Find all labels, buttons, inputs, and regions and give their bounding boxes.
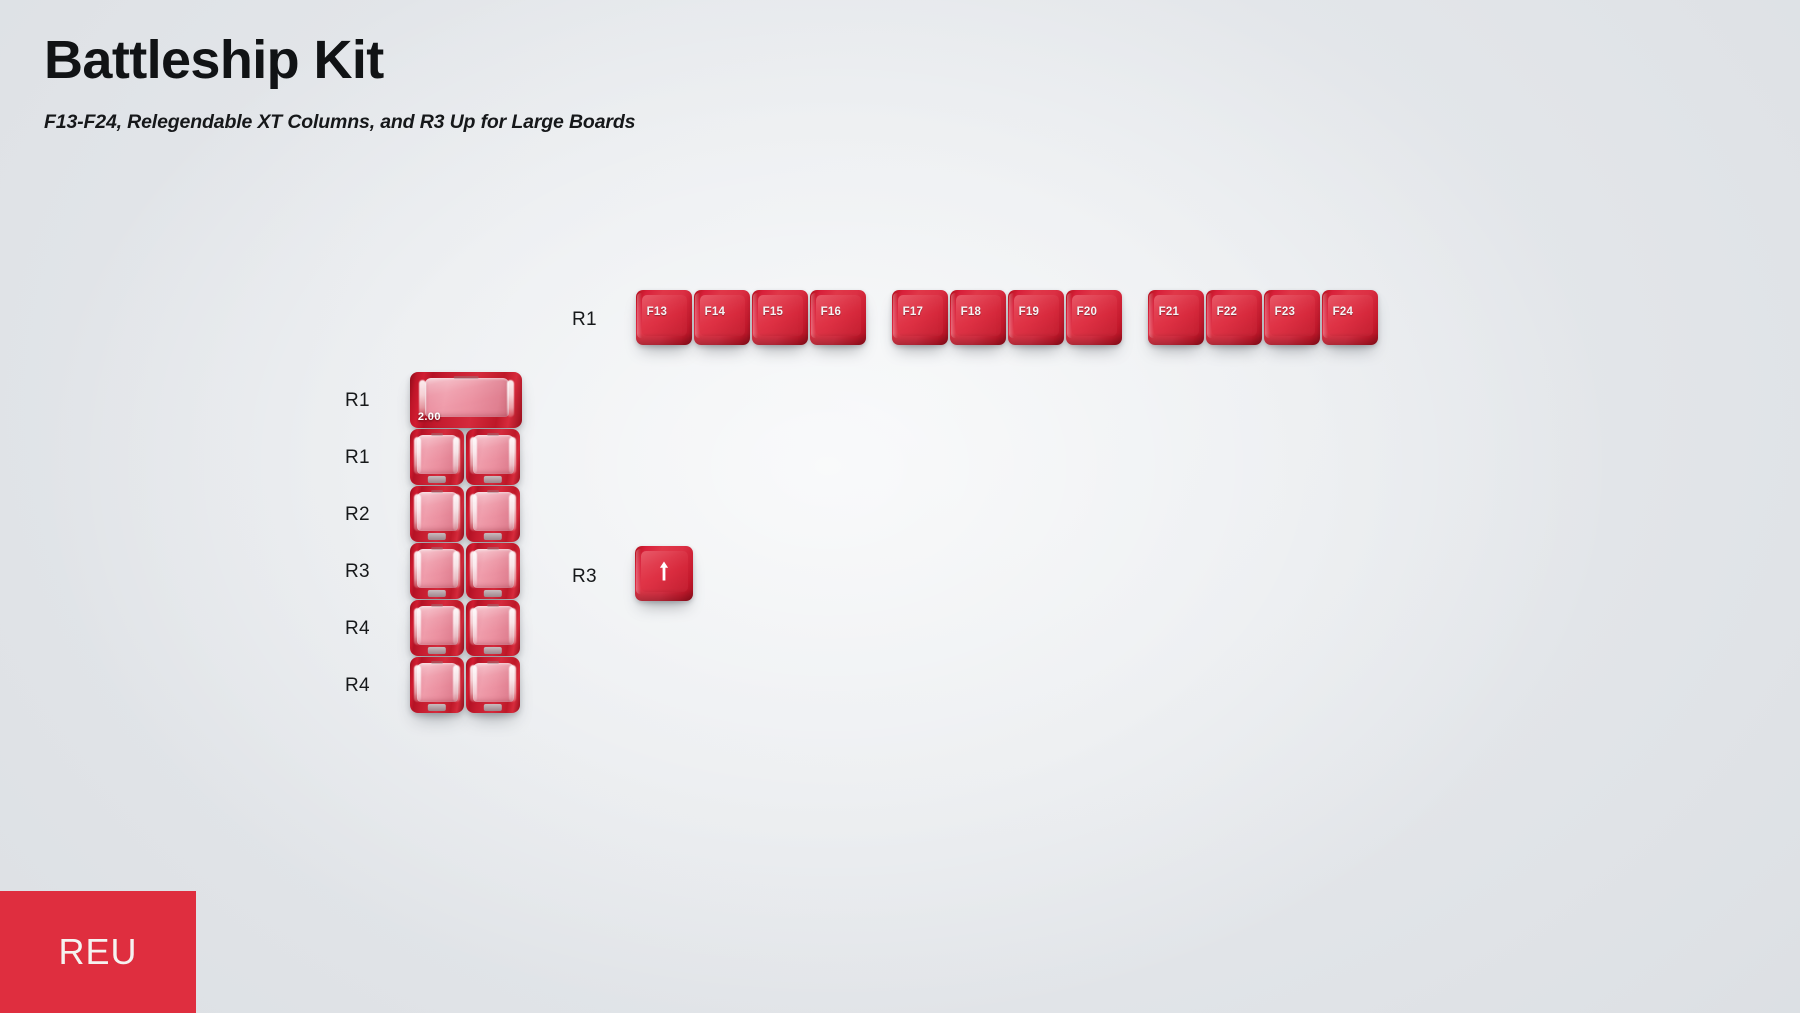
keycap-xt-r3-c0[interactable]: [410, 543, 464, 599]
keycap-vent-mark: [487, 604, 499, 607]
keycap-top-face: [1014, 295, 1059, 336]
keycap-left-rim: [1323, 293, 1328, 338]
keycap-left-rim: [753, 293, 758, 338]
row-label-xt-3: R3: [345, 561, 370, 583]
keycap-top-face: [816, 295, 861, 336]
keycap-right-specular: [509, 608, 516, 645]
keycap-skirt: [1066, 333, 1122, 345]
keycap-left-specular: [470, 551, 477, 588]
keycap-skirt: [694, 333, 750, 345]
keycap-stem-notch: [484, 704, 502, 711]
keycap-xt-r5-c1[interactable]: [466, 657, 520, 713]
keycap-left-rim: [893, 293, 898, 338]
keycap-skirt: [950, 333, 1006, 345]
keycap-stem-notch: [484, 533, 502, 540]
keycap-skirt: [1148, 333, 1204, 345]
keycap-skirt: [752, 333, 808, 345]
keycap-top-face: [417, 606, 458, 645]
keycap-skirt: [1264, 333, 1320, 345]
keycap-top-face: [898, 295, 943, 336]
reu-badge-label: REU: [58, 931, 137, 973]
keycap-vent-mark: [431, 661, 443, 664]
keycap-right-specular: [509, 494, 516, 531]
keycap-top-face: [1154, 295, 1199, 336]
keycap-vent-mark: [431, 433, 443, 436]
keycap-left-rim: [1207, 293, 1212, 338]
row-label-function-row: R1: [572, 309, 597, 331]
keycap-skirt: [892, 333, 948, 345]
keycap-vent-mark: [431, 490, 443, 493]
keycap-right-specular: [453, 608, 460, 645]
keycap-skirt: [810, 333, 866, 345]
keycap-xt-r5-c0[interactable]: [410, 657, 464, 713]
row-label-xt-4: R4: [345, 618, 370, 640]
keycap-stem-notch: [484, 647, 502, 654]
keycap-xt-r4-c0[interactable]: [410, 600, 464, 656]
keycap-xt-r4-c1[interactable]: [466, 600, 520, 656]
reu-badge: REU: [0, 891, 196, 1013]
keycap-left-specular: [414, 608, 421, 645]
keycap-left-specular: [414, 665, 421, 702]
keycap-xt-r1-c1[interactable]: [466, 429, 520, 485]
keycap-left-specular: [414, 494, 421, 531]
keycap-f24[interactable]: F24: [1322, 290, 1378, 345]
keycap-top-face: [641, 551, 688, 592]
keycap-top-face: [1072, 295, 1117, 336]
keycap-left-rim: [636, 549, 641, 594]
keycap-left-specular: [470, 608, 477, 645]
keycap-f21[interactable]: F21: [1148, 290, 1204, 345]
keycap-left-rim: [811, 293, 816, 338]
keycap-left-specular: [414, 551, 421, 588]
keycap-top-face: [417, 492, 458, 531]
keycap-left-rim: [951, 293, 956, 338]
keycap-top-face: [1270, 295, 1315, 336]
keycap-xt-r0-c0-2u[interactable]: 2.00: [410, 372, 522, 428]
keycap-top-face: [473, 606, 514, 645]
keycap-vent-mark: [431, 604, 443, 607]
page-subtitle: F13-F24, Relegendable XT Columns, and R3…: [44, 111, 635, 134]
keycap-f14[interactable]: F14: [694, 290, 750, 345]
keycap-xt-r2-c1[interactable]: [466, 486, 520, 542]
keycap-stem-notch: [428, 590, 446, 597]
keycap-left-rim: [1265, 293, 1270, 338]
keycap-left-specular: [470, 665, 477, 702]
keycap-f15[interactable]: F15: [752, 290, 808, 345]
keycap-skirt: [636, 333, 692, 345]
row-label-xt-1: R1: [345, 447, 370, 469]
row-label-arrow-key: R3: [572, 566, 597, 588]
keycap-top-face: [758, 295, 803, 336]
keycap-top-face: [473, 549, 514, 588]
keycap-vent-mark: [454, 376, 479, 379]
keycap-top-face: [417, 549, 458, 588]
keycap-top-face: [473, 663, 514, 702]
page-title: Battleship Kit: [44, 32, 635, 89]
keycap-top-face: [473, 435, 514, 474]
keycap-right-specular: [453, 551, 460, 588]
keycap-vent-mark: [487, 547, 499, 550]
keycap-left-specular: [414, 437, 421, 474]
keycap-stem-notch: [428, 533, 446, 540]
keycap-top-face: [642, 295, 687, 336]
header: Battleship Kit F13-F24, Relegendable XT …: [44, 32, 635, 134]
keycap-f19[interactable]: F19: [1008, 290, 1064, 345]
keycap-stem-notch: [484, 590, 502, 597]
keycap-right-specular: [509, 551, 516, 588]
studio-backdrop: [0, 0, 1800, 1013]
keycap-vent-mark: [487, 433, 499, 436]
keycap-right-specular: [453, 437, 460, 474]
keycap-f17[interactable]: F17: [892, 290, 948, 345]
keycap-right-specular: [507, 380, 514, 417]
keycap-left-rim: [1009, 293, 1014, 338]
keycap-skirt: [1008, 333, 1064, 345]
keycap-stem-notch: [428, 476, 446, 483]
keycap-size-legend: 2.00: [418, 411, 441, 423]
keycap-top-face: [1212, 295, 1257, 336]
row-label-xt-5: R4: [345, 675, 370, 697]
keycap-top-face: [1328, 295, 1373, 336]
keycap-skirt: [635, 589, 693, 601]
keycap-stem-notch: [428, 704, 446, 711]
keycap-skirt: [1206, 333, 1262, 345]
keycap-top-face: [473, 492, 514, 531]
keycap-left-rim: [1149, 293, 1154, 338]
keycap-f20[interactable]: F20: [1066, 290, 1122, 345]
keycap-left-specular: [470, 494, 477, 531]
keycap-left-rim: [1067, 293, 1072, 338]
keycap-vent-mark: [487, 661, 499, 664]
keycap-vent-mark: [431, 547, 443, 550]
keycap-xt-r3-c1[interactable]: [466, 543, 520, 599]
keycap-f23[interactable]: F23: [1264, 290, 1320, 345]
keycap-top-face: [417, 435, 458, 474]
row-label-xt-2: R2: [345, 504, 370, 526]
keycap-f22[interactable]: F22: [1206, 290, 1262, 345]
keycap-left-rim: [637, 293, 642, 338]
keycap-left-rim: [695, 293, 700, 338]
keycap-stem-notch: [484, 476, 502, 483]
keycap-left-specular: [470, 437, 477, 474]
keycap-top-face: [700, 295, 745, 336]
keycap-r3-up-arrow[interactable]: [635, 546, 693, 601]
keycap-f18[interactable]: F18: [950, 290, 1006, 345]
keycap-right-specular: [509, 437, 516, 474]
keycap-f13[interactable]: F13: [636, 290, 692, 345]
keycap-right-specular: [453, 494, 460, 531]
keycap-vent-mark: [487, 490, 499, 493]
keycap-stem-notch: [428, 647, 446, 654]
keycap-right-specular: [509, 665, 516, 702]
keycap-top-face: [417, 663, 458, 702]
keycap-right-specular: [453, 665, 460, 702]
keycap-xt-r2-c0[interactable]: [410, 486, 464, 542]
keycap-f16[interactable]: F16: [810, 290, 866, 345]
keycap-xt-r1-c0[interactable]: [410, 429, 464, 485]
keycap-top-face: [956, 295, 1001, 336]
keycap-skirt: [1322, 333, 1378, 345]
row-label-xt-0: R1: [345, 390, 370, 412]
